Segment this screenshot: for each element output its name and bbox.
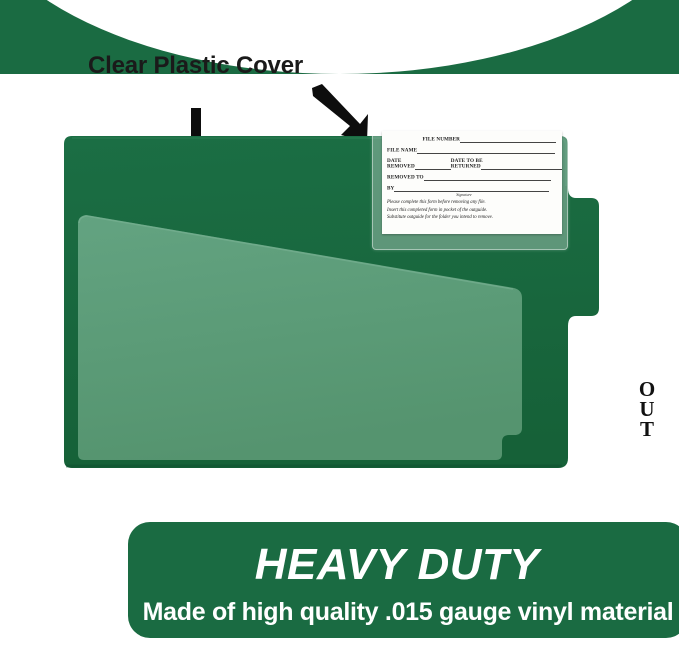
form-instruction-line: Substitute outguide for the folder you i…	[387, 214, 557, 221]
file-name-label: FILE NAME	[387, 148, 417, 154]
date-removed-label-2: REMOVED	[387, 164, 415, 170]
date-removed-rule	[415, 164, 451, 170]
file-name-rule	[417, 148, 555, 154]
by-label: BY	[387, 186, 394, 192]
form-row-by: BY	[387, 186, 557, 192]
form-row-file-name: FILE NAME	[387, 148, 557, 154]
file-number-rule	[460, 137, 556, 143]
removed-to-rule	[424, 175, 551, 181]
outguide-form-card: FILE NUMBER FILE NAME DATE REMOVED DATE …	[382, 131, 562, 234]
form-row-dates: DATE REMOVED DATE TO BE RETURNED	[387, 159, 557, 170]
date-returned-rule	[481, 164, 562, 170]
form-instruction-line: Please complete this form before removin…	[387, 199, 557, 206]
removed-to-label: REMOVED TO	[387, 175, 424, 181]
form-instructions: Please complete this form before removin…	[387, 199, 557, 221]
date-removed-group: DATE REMOVED	[387, 159, 451, 170]
page-title: Clear Plastic Cover	[88, 52, 303, 80]
out-letter-t: T	[634, 420, 660, 440]
signature-caption: Signature	[387, 192, 557, 197]
out-tab-label: O U T	[634, 380, 660, 440]
product-image-canvas: Clear Plastic Cover	[0, 0, 679, 658]
form-instruction-line: Insert this completed form in pocket of …	[387, 207, 557, 214]
file-number-label: FILE NUMBER	[422, 137, 460, 143]
form-row-removed-to: REMOVED TO	[387, 175, 557, 181]
banner-title: HEAVY DUTY	[128, 540, 666, 590]
date-returned-group: DATE TO BE RETURNED	[451, 159, 562, 170]
form-row-file-number: FILE NUMBER	[387, 137, 557, 143]
banner-subtitle: Made of high quality .015 gauge vinyl ma…	[128, 598, 679, 627]
by-rule	[394, 186, 549, 192]
date-returned-label-2: RETURNED	[451, 164, 481, 170]
